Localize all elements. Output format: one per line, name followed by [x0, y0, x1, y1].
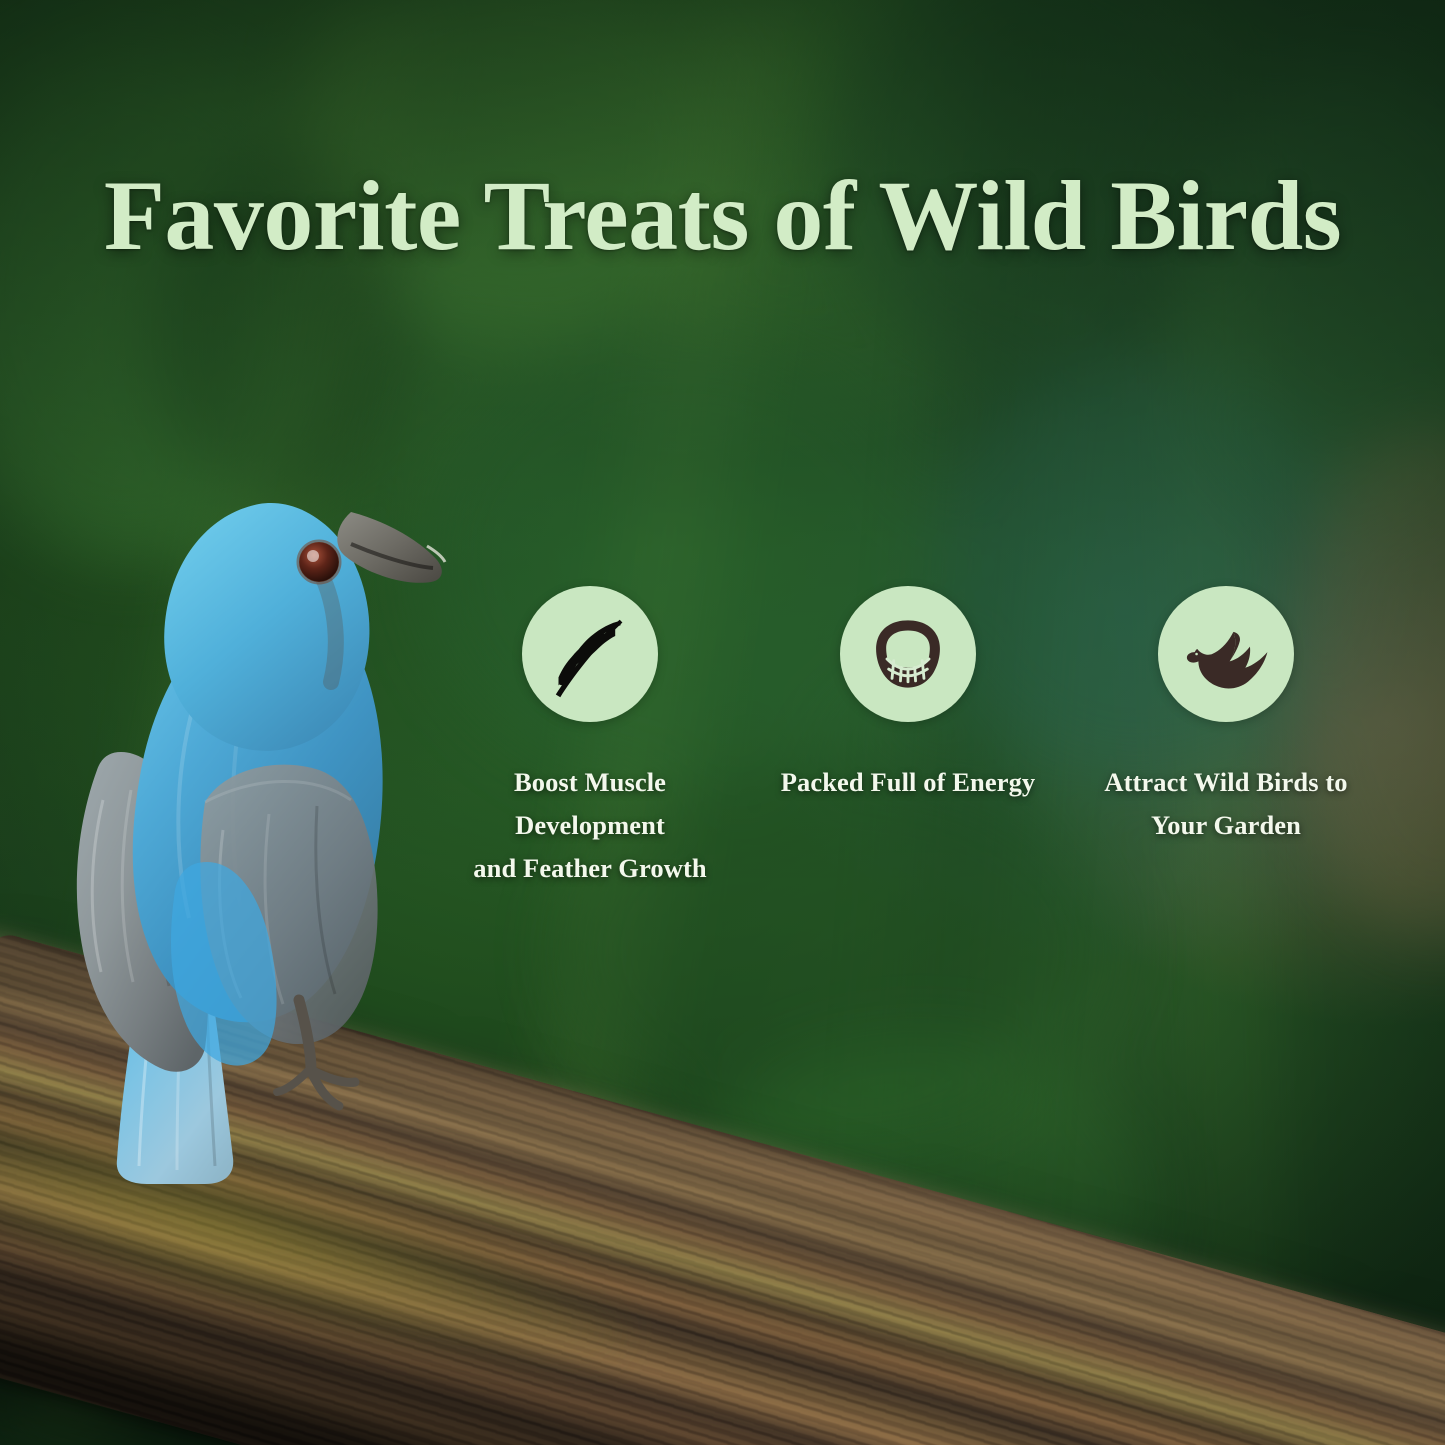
feature-label-line: Development: [473, 804, 706, 847]
feature-label-line: Your Garden: [1104, 804, 1347, 847]
feature-label-line: Packed Full of Energy: [781, 761, 1036, 804]
feather-icon-badge: [522, 586, 658, 722]
feather-icon: [545, 609, 635, 699]
feature-item-boost-muscle: Boost Muscle Development and Feather Gro…: [440, 586, 740, 891]
feature-label-line: Attract Wild Birds to: [1104, 761, 1347, 804]
flying-bird-icon: [1180, 608, 1272, 700]
feature-label-line: and Feather Growth: [473, 847, 706, 890]
feature-list: Boost Muscle Development and Feather Gro…: [440, 586, 1400, 891]
feature-item-attract-birds: Attract Wild Birds to Your Garden: [1076, 586, 1376, 847]
blue-bird: [55, 470, 485, 1190]
feature-label: Boost Muscle Development and Feather Gro…: [473, 761, 706, 891]
page-title: Favorite Treats of Wild Birds: [0, 166, 1445, 266]
feature-label: Attract Wild Birds to Your Garden: [1104, 761, 1347, 847]
feature-item-packed-energy: Packed Full of Energy: [758, 586, 1058, 804]
flying-bird-icon-badge: [1158, 586, 1294, 722]
promo-banner: Favorite Treats of Wild Birds: [0, 0, 1445, 1445]
feature-label: Packed Full of Energy: [781, 761, 1036, 804]
seed-basket-icon: [866, 612, 950, 696]
feature-label-line: Boost Muscle: [473, 761, 706, 804]
seed-basket-icon-badge: [840, 586, 976, 722]
